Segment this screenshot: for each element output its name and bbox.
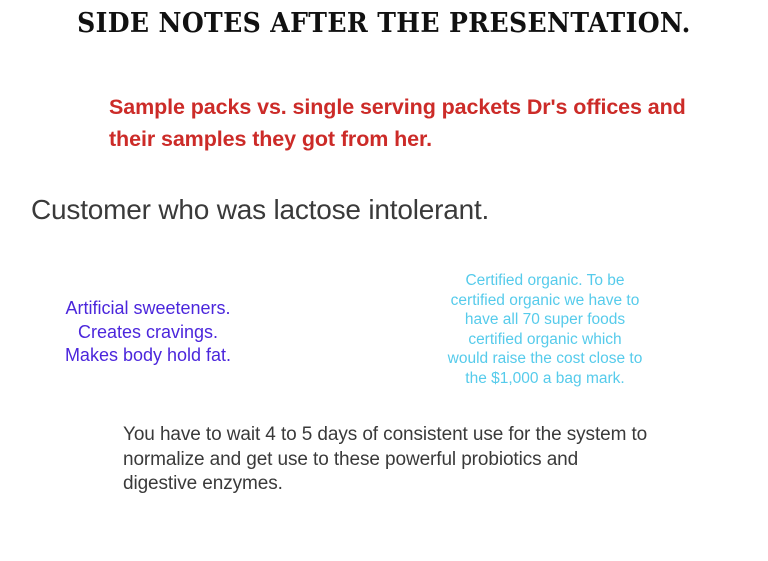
red-note-line: Sample packs vs. single serving packets …	[109, 91, 709, 123]
customer-note-line: Customer who was lactose intolerant.	[31, 192, 731, 228]
purple-note-line: Creates cravings.	[34, 321, 262, 345]
bottom-note-line: You have to wait 4 to 5 days of consiste…	[123, 423, 698, 448]
slide-title: SIDE NOTES AFTER THE PRESENTATION.	[0, 8, 768, 40]
cyan-note-line: certified organic we have to	[425, 291, 665, 311]
bottom-note-line: normalize and get use to these powerful …	[123, 448, 698, 473]
cyan-note-line: would raise the cost close to	[425, 349, 665, 369]
customer-note-textbox: Customer who was lactose intolerant.	[31, 192, 731, 228]
cyan-note-line: Certified organic. To be	[425, 271, 665, 291]
cyan-note-textbox: Certified organic. To be certified organ…	[425, 271, 665, 388]
cyan-note-line: have all 70 super foods	[425, 310, 665, 330]
cyan-note-line: certified organic which	[425, 330, 665, 350]
purple-note-line: Makes body hold fat.	[34, 344, 262, 368]
purple-note-textbox: Artificial sweeteners. Creates cravings.…	[34, 297, 262, 368]
slide-title-text: SIDE NOTES AFTER THE PRESENTATION.	[77, 8, 691, 40]
red-note-textbox: Sample packs vs. single serving packets …	[109, 91, 709, 155]
slide-canvas: SIDE NOTES AFTER THE PRESENTATION. Sampl…	[0, 0, 768, 561]
bottom-note-line: digestive enzymes.	[123, 472, 698, 497]
purple-note-line: Artificial sweeteners.	[34, 297, 262, 321]
red-note-line: their samples they got from her.	[109, 123, 709, 155]
cyan-note-line: the $1,000 a bag mark.	[425, 369, 665, 389]
bottom-note-textbox: You have to wait 4 to 5 days of consiste…	[123, 423, 698, 497]
